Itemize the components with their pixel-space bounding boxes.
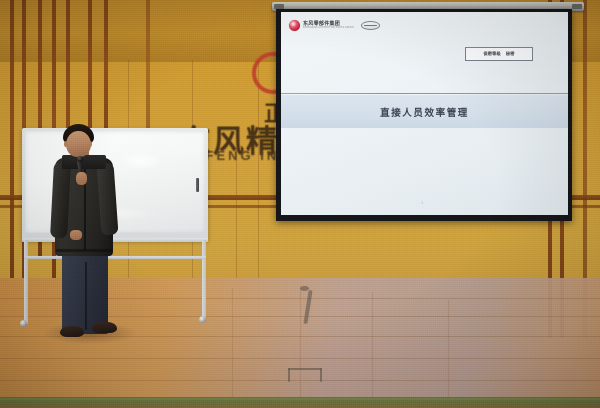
floor-marking bbox=[288, 368, 322, 370]
presenter-hand-lower bbox=[70, 230, 82, 240]
presenter-jacket-hem bbox=[56, 249, 112, 252]
stage-edge-trim bbox=[0, 398, 600, 408]
whiteboard-crossbar bbox=[24, 256, 206, 259]
floor-plank-line bbox=[448, 300, 449, 398]
floor-plank-line bbox=[300, 286, 301, 398]
microphone-head-icon bbox=[77, 156, 83, 162]
whiteboard-leg bbox=[202, 240, 206, 320]
tag-label: 保密等级 bbox=[483, 51, 501, 57]
slide-page-number: 1 bbox=[421, 200, 423, 205]
floor-plank-line bbox=[372, 292, 373, 398]
floor-marking bbox=[288, 368, 290, 382]
slide-logo-lockup: 东风零部件集团 DONGFENG AUTOMOTIVE PARTS GROUP bbox=[289, 20, 380, 31]
presenter-collar bbox=[62, 155, 106, 169]
presenter-ear bbox=[64, 141, 67, 147]
slide-logo-subtitle: DONGFENG AUTOMOTIVE PARTS GROUP bbox=[303, 27, 354, 30]
floor-plank-line bbox=[232, 288, 233, 398]
slide-title: 直接人员效率管理 bbox=[380, 105, 469, 119]
oval-brand-mark-icon bbox=[361, 21, 380, 30]
slide-confidentiality-tag: 保密等级 秘密 bbox=[465, 47, 533, 61]
presenter-hand-holding-mic bbox=[76, 172, 87, 185]
presenter-ear bbox=[89, 141, 92, 147]
presenter-leg-seam bbox=[85, 262, 87, 330]
whiteboard-leg bbox=[24, 240, 28, 324]
dongfeng-logo-icon bbox=[289, 20, 300, 31]
caster-wheel-icon bbox=[199, 316, 206, 323]
floor-cable bbox=[300, 286, 309, 291]
housing-end-cap-icon bbox=[572, 4, 582, 9]
marker-clip-icon bbox=[196, 178, 199, 192]
presenter-shoe bbox=[60, 326, 84, 337]
slide-title-band: 直接人员效率管理 bbox=[281, 95, 568, 128]
caster-wheel-icon bbox=[20, 320, 27, 327]
projector-screen: 东风零部件集团 DONGFENG AUTOMOTIVE PARTS GROUP … bbox=[281, 12, 568, 215]
photo-scene: 正 东风精密 NGFENG INVE 东风零部件集团 DONGFENG AUTO… bbox=[0, 0, 600, 408]
floor-marking bbox=[320, 368, 322, 382]
wall-vertical-stripe bbox=[10, 0, 14, 300]
presenter-shoe bbox=[92, 322, 117, 333]
whiteboard-tray bbox=[22, 238, 208, 242]
presenter-head bbox=[66, 131, 91, 157]
whiteboard-glare bbox=[120, 152, 162, 170]
tag-value: 秘密 bbox=[506, 51, 515, 57]
